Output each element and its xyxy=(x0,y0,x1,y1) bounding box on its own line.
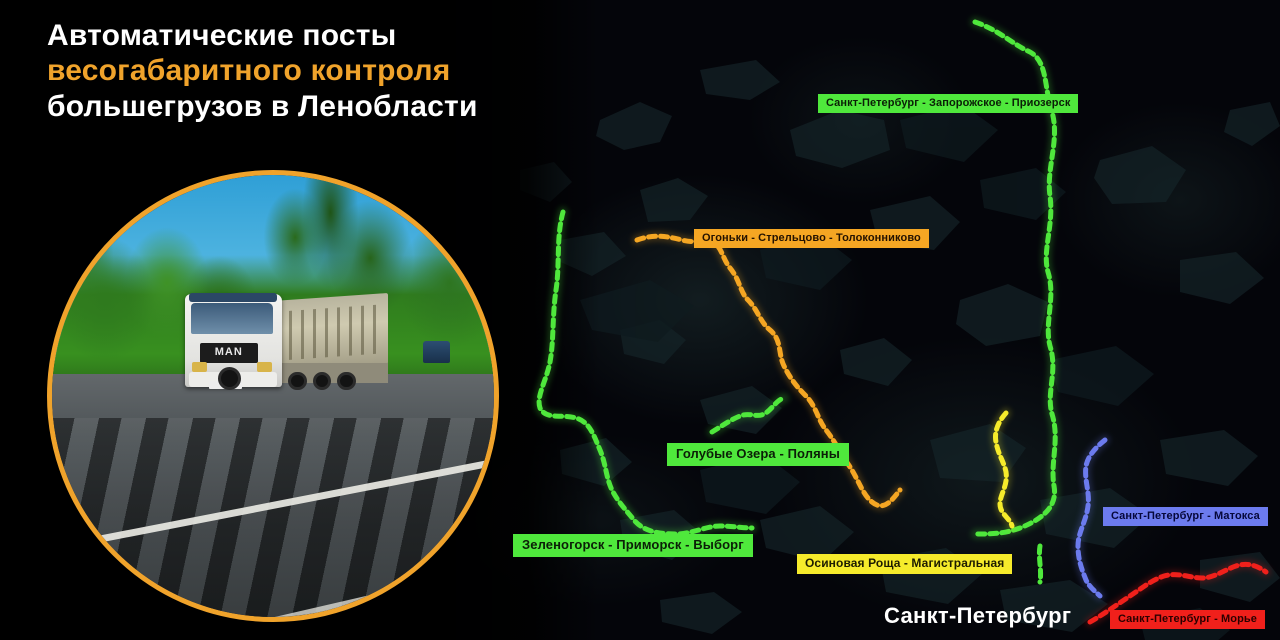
route-osinovaya-roshcha-magistralnaya xyxy=(995,413,1012,526)
truck-wheel xyxy=(218,367,241,390)
route-golubye-ozera-polyany xyxy=(712,398,784,432)
page-title: Автоматические посты весогабаритного кон… xyxy=(47,18,567,124)
city-label-saint-petersburg: Санкт-Петербург xyxy=(884,603,1071,629)
route-label-golubye-ozera-polyany[interactable]: Голубые Озера - Поляны xyxy=(667,443,849,466)
distant-car xyxy=(423,341,450,363)
route-label-ogonki-streltsovo-tolokonnikovo[interactable]: Огоньки - Стрельцово - Толоконниково xyxy=(694,229,929,248)
trailer-ribs xyxy=(277,304,383,360)
poster-canvas: Автоматические посты весогабаритного кон… xyxy=(0,0,1280,640)
route-label-spb-morye[interactable]: Санкт-Петербург - Морье xyxy=(1110,610,1265,629)
truck-headlight xyxy=(192,362,207,372)
truck-wheel xyxy=(337,372,356,391)
title-line-1: Автоматические посты xyxy=(47,18,567,53)
truck-photo: MAN xyxy=(47,170,499,622)
truck-sun-visor xyxy=(189,293,277,303)
route-label-spb-zaporozhskoe-priozersk[interactable]: Санкт-Петербург - Запорожское - Приозерс… xyxy=(818,94,1078,113)
route-label-osinovaya-roshcha-magistralnaya[interactable]: Осиновая Роща - Магистральная xyxy=(797,554,1012,574)
truck-brand-badge: MAN xyxy=(213,346,244,360)
title-line-3: большегрузов в Ленобласти xyxy=(47,89,567,124)
truck-windshield xyxy=(191,303,273,334)
route-label-spb-matoksa[interactable]: Санкт-Петербург - Матокса xyxy=(1103,507,1268,526)
truck-wheel xyxy=(288,372,307,391)
truck-headlight xyxy=(257,362,272,372)
title-line-2: весогабаритного контроля xyxy=(47,53,567,88)
route-spb-matoksa xyxy=(1078,440,1105,596)
route-label-zelenogorsk-primorsk-vyborg[interactable]: Зеленогорск - Приморск - Выборг xyxy=(513,534,753,557)
